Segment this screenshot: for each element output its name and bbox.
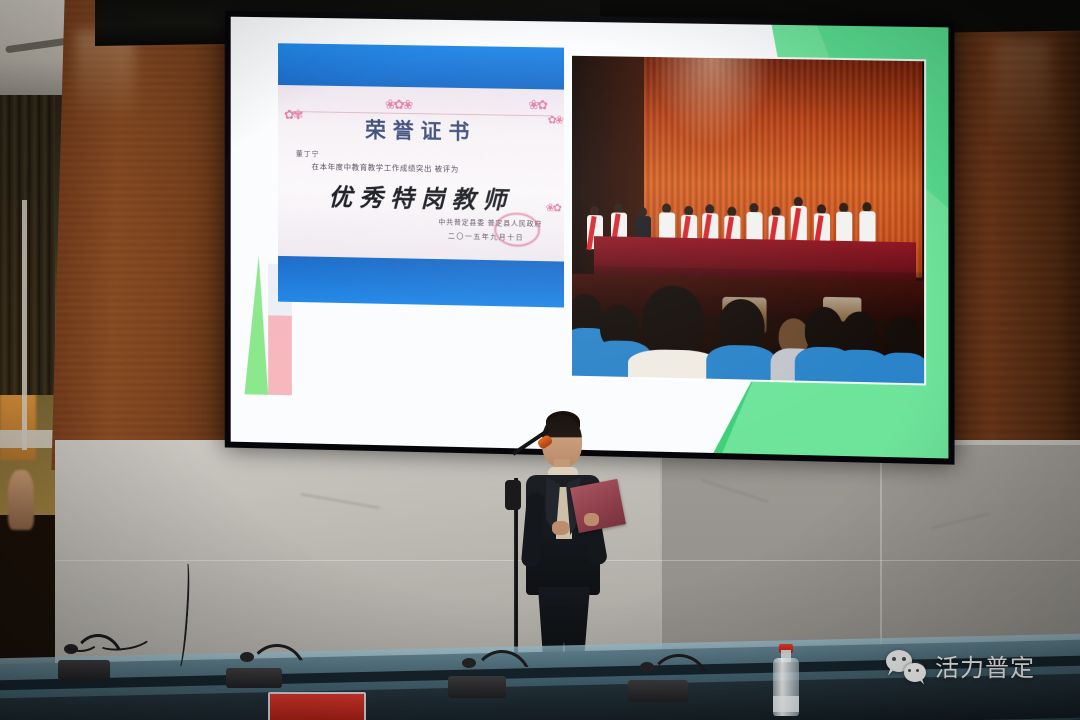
certificate-border-bottom (278, 254, 564, 308)
presenter-hand-right (584, 513, 599, 526)
projection-screen: ✿✾ ❀✿❀ ❀✿ ✿❀ ❀✿ 荣誉证书 董丁宁 在本年度中教育教学工作成绩突出… (225, 11, 955, 465)
window-frame (22, 200, 27, 450)
microphone-stand-clamp (505, 480, 521, 510)
slide-accent-pink (268, 315, 292, 395)
presenter-folder (570, 479, 626, 533)
wechat-eye (908, 669, 911, 672)
watermark: 活力普定 (886, 648, 1035, 683)
water-bottle[interactable] (773, 644, 799, 716)
wechat-eye (916, 669, 919, 672)
presenter-hand-left (552, 521, 569, 535)
ceremony-photo (572, 56, 924, 384)
certificate-title: 荣誉证书 (278, 113, 564, 148)
flower-ornament-icon: ❀✿ (528, 97, 546, 113)
desk-name-plate (268, 692, 366, 720)
person-outside-window (8, 470, 34, 530)
desk-microphone-capsule (640, 662, 654, 672)
wechat-eye (902, 657, 906, 661)
certificate-body-line: 在本年度中教育教学工作成绩突出 被评为 (312, 161, 548, 176)
bottle-label (773, 696, 799, 712)
wechat-icon (886, 650, 926, 682)
slide-accent-green (244, 255, 268, 395)
certificate-seal (494, 212, 540, 247)
certificate-image: ✿✾ ❀✿❀ ❀✿ ✿❀ ❀✿ 荣誉证书 董丁宁 在本年度中教育教学工作成绩突出… (278, 43, 564, 307)
audience-shoulder (878, 352, 925, 383)
window-sill (0, 430, 60, 448)
stage-light-glow (652, 57, 773, 149)
flower-ornament-icon: ❀✿❀ (385, 97, 411, 113)
certificate-award-title: 优秀特岗教师 (278, 176, 564, 216)
desk-microphone-capsule (462, 658, 476, 668)
audience-head (642, 285, 704, 358)
certificate-paper: ✿✾ ❀✿❀ ❀✿ ✿❀ ❀✿ 荣誉证书 董丁宁 在本年度中教育教学工作成绩突出… (278, 85, 564, 262)
photo-scene: ✿✾ ❀✿❀ ❀✿ ✿❀ ❀✿ 荣誉证书 董丁宁 在本年度中教育教学工作成绩突出… (0, 0, 1080, 720)
screen-surface: ✿✾ ❀✿❀ ❀✿ ✿❀ ❀✿ 荣誉证书 董丁宁 在本年度中教育教学工作成绩突出… (231, 17, 949, 459)
wechat-eye (892, 657, 896, 661)
microphone-cable (60, 626, 100, 652)
wechat-bubble-small (904, 663, 926, 682)
presenter (508, 415, 628, 675)
watermark-text: 活力普定 (935, 648, 1035, 683)
presentation-slide: ✿✾ ❀✿❀ ❀✿ ✿❀ ❀✿ 荣誉证书 董丁宁 在本年度中教育教学工作成绩突出… (231, 17, 949, 459)
window-curtain (0, 95, 55, 395)
wood-wall-right-highlight (995, 40, 1050, 150)
desk-microphone-capsule (240, 652, 254, 662)
certificate-recipient: 董丁宁 (296, 149, 320, 159)
audience-shoulder (706, 345, 776, 384)
